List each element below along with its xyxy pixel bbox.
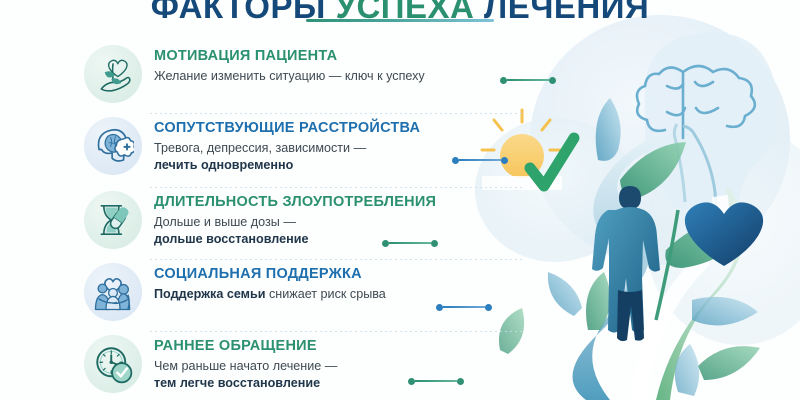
connector-line [443,306,485,308]
factor-text-comorbid: СОПУТСТВУЮЩИЕ РАССТРОЙСТВА Тревога, депр… [154,113,420,173]
factors-list: МОТИВАЦИЯ ПАЦИЕНТА Желание изменить ситу… [84,41,504,397]
factor-row-comorbid[interactable]: СОПУТСТВУЮЩИЕ РАССТРОЙСТВА Тревога, депр… [84,113,504,187]
head-brain-medical-cross-icon [84,117,142,175]
connector-dot [549,77,556,84]
factor-text-duration: ДЛИТЕЛЬНОСТЬ ЗЛОУПОТРЕБЛЕНИЯ Дольше и вы… [154,187,436,247]
factor-heading: СОПУТСТВУЮЩИЕ РАССТРОЙСТВА [154,119,420,137]
family-heart-icon [84,263,142,321]
row-separator [150,331,522,332]
factor-heading: РАННЕЕ ОБРАЩЕНИЕ [154,337,337,355]
connector-dot [501,157,508,164]
connector-dot [457,378,464,385]
factor-row-early[interactable]: РАННЕЕ ОБРАЩЕНИЕ Чем раньше начато лечен… [84,331,504,397]
factor-text-support: СОЦИАЛЬНАЯ ПОДДЕРЖКА Поддержка семьи сни… [154,259,386,303]
connector-dot [382,240,389,247]
clock-check-icon [84,335,142,393]
factor-desc-bold: лечить одновременно [154,158,293,172]
factor-description: Поддержка семьи снижает риск срыва [154,286,386,303]
factor-description: Тревога, депрессия, зависимости — лечить… [154,140,420,173]
factor-desc-plain: Тревога, депрессия, зависимости — [154,141,366,155]
page-header: ФАКТОРЫ УСПЕХА ЛЕЧЕНИЯ [0,0,800,24]
illustration-artwork [470,0,800,400]
factor-text-motivation: МОТИВАЦИЯ ПАЦИЕНТА Желание изменить ситу… [154,41,425,85]
infographic-canvas: ФАКТОРЫ УСПЕХА ЛЕЧЕНИЯ МОТИВАЦИЯ ПАЦИЕНТ… [0,0,800,400]
hand-holding-plant-heart-icon [84,45,142,103]
connector-duration [382,239,438,247]
factor-row-duration[interactable]: ДЛИТЕЛЬНОСТЬ ЗЛОУПОТРЕБЛЕНИЯ Дольше и вы… [84,187,504,259]
factor-description: Желание изменить ситуацию — ключ к успех… [154,68,425,85]
factor-desc-plain: снижает риск срыва [265,287,385,301]
factor-row-motivation[interactable]: МОТИВАЦИЯ ПАЦИЕНТА Желание изменить ситу… [84,41,504,113]
title-divider [306,19,494,22]
row-separator [150,113,522,114]
connector-line [507,79,549,81]
factor-desc-bold: дольше восстановление [154,232,308,246]
connector-dot [452,157,459,164]
connector-dot [431,240,438,247]
factor-heading: СОЦИАЛЬНАЯ ПОДДЕРЖКА [154,265,386,283]
factor-heading: ДЛИТЕЛЬНОСТЬ ЗЛОУПОТРЕБЛЕНИЯ [154,193,436,211]
factor-desc-plain: Желание изменить ситуацию — ключ к успех… [154,69,425,83]
factor-row-support[interactable]: СОЦИАЛЬНАЯ ПОДДЕРЖКА Поддержка семьи сни… [84,259,504,331]
row-separator [150,187,522,188]
connector-dot [500,77,507,84]
title-part-treatment: ЛЕЧЕНИЯ [474,0,649,25]
factor-desc-plain: Дольше и выше дозы — [154,215,296,229]
factor-desc-bold: Поддержка семьи [154,287,265,301]
connector-line [389,242,431,244]
factor-desc-plain: Чем раньше начато лечение — [154,359,337,373]
factor-description: Чем раньше начато лечение — тем легче во… [154,358,337,391]
connector-motivation [500,76,556,84]
connector-dot [436,304,443,311]
connector-comorbid [452,156,508,164]
connector-dot [485,304,492,311]
connector-dot [408,378,415,385]
connector-line [415,380,457,382]
connector-line [459,159,501,161]
factor-text-early: РАННЕЕ ОБРАЩЕНИЕ Чем раньше начато лечен… [154,331,337,391]
connector-support [436,303,492,311]
hourglass-pill-icon [84,191,142,249]
row-separator [150,259,522,260]
connector-early [408,377,464,385]
factor-desc-bold: тем легче восстановление [154,376,320,390]
factor-heading: МОТИВАЦИЯ ПАЦИЕНТА [154,47,425,65]
